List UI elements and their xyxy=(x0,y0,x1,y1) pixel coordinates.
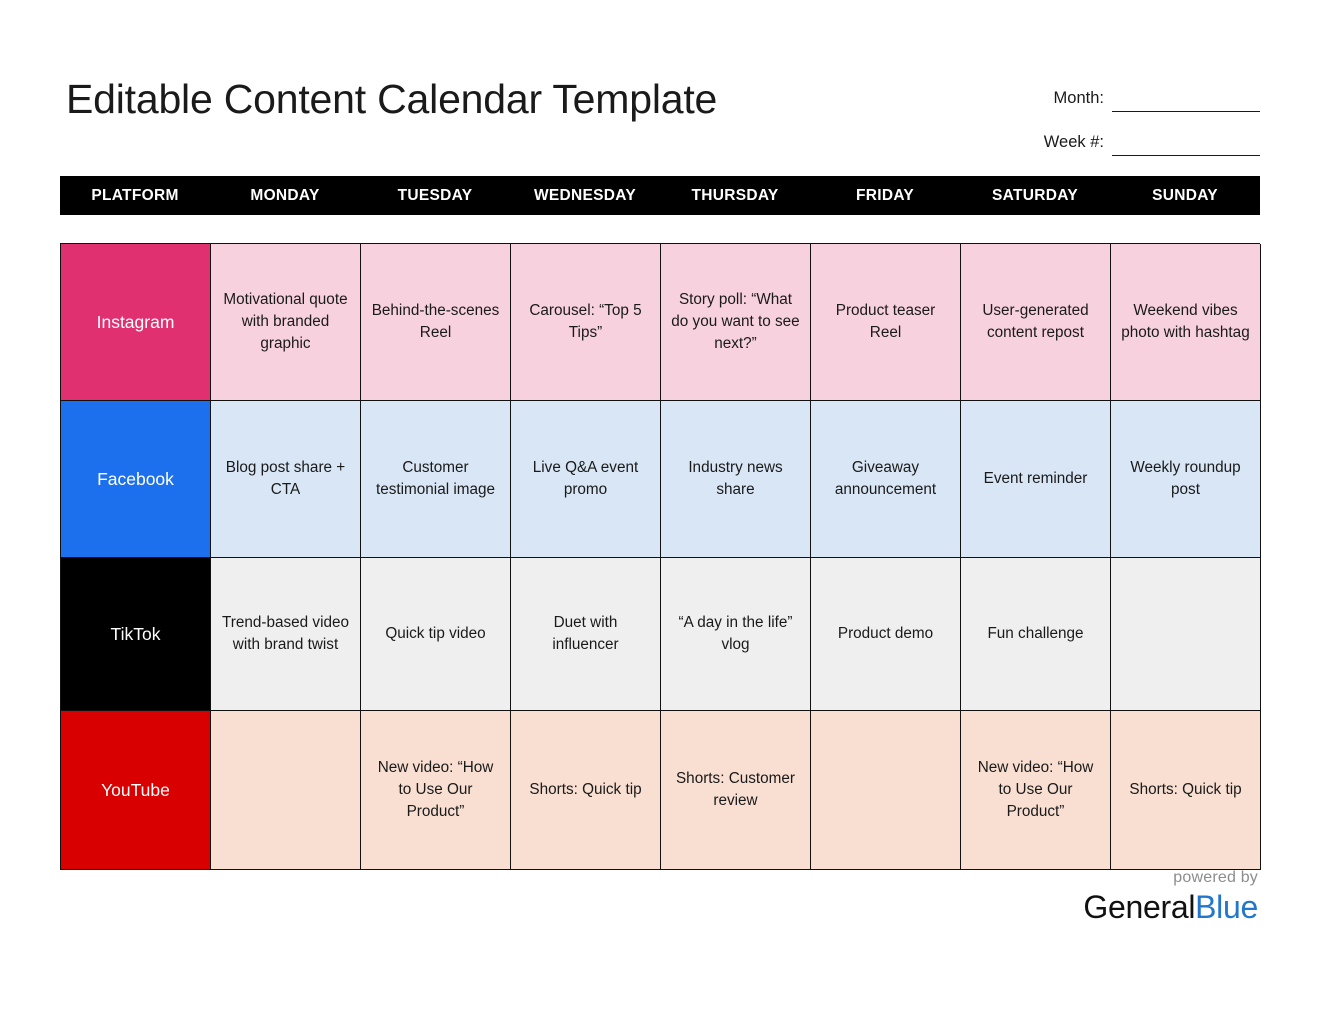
cell-text: Weekly roundup post xyxy=(1120,457,1251,500)
cell-text: Trend-based video with brand twist xyxy=(220,612,351,655)
platform-label-facebook: Facebook xyxy=(61,401,211,558)
week-label: Week #: xyxy=(1044,133,1112,156)
cell-facebook-tuesday[interactable]: Customer testimonial image xyxy=(361,401,511,558)
cell-facebook-monday[interactable]: Blog post share + CTA xyxy=(211,401,361,558)
content-calendar-page: Editable Content Calendar Template Month… xyxy=(0,0,1320,1020)
cell-instagram-tuesday[interactable]: Behind-the-scenes Reel xyxy=(361,244,511,401)
month-input[interactable] xyxy=(1112,85,1260,112)
cell-instagram-sunday[interactable]: Weekend vibes photo with hashtag xyxy=(1111,244,1261,401)
cell-youtube-thursday[interactable]: Shorts: Customer review xyxy=(661,711,811,870)
table-row: Instagram Motivational quote with brande… xyxy=(61,244,1260,401)
month-field-row: Month: xyxy=(1008,68,1260,112)
cell-tiktok-wednesday[interactable]: Duet with influencer xyxy=(511,558,661,711)
cell-text: Giveaway announcement xyxy=(820,457,951,500)
cell-youtube-wednesday[interactable]: Shorts: Quick tip xyxy=(511,711,661,870)
cell-instagram-friday[interactable]: Product teaser Reel xyxy=(811,244,961,401)
brand-name: GeneralBlue xyxy=(1083,891,1258,923)
cell-text: Shorts: Quick tip xyxy=(1129,779,1241,801)
platform-label-instagram: Instagram xyxy=(61,244,211,401)
cell-text: New video: “How to Use Our Product” xyxy=(970,757,1101,822)
table-row: Facebook Blog post share + CTA Customer … xyxy=(61,401,1260,558)
cell-text: New video: “How to Use Our Product” xyxy=(370,757,501,822)
page-title: Editable Content Calendar Template xyxy=(66,76,717,123)
cell-tiktok-saturday[interactable]: Fun challenge xyxy=(961,558,1111,711)
cell-instagram-monday[interactable]: Motivational quote with branded graphic xyxy=(211,244,361,401)
meta-fields: Month: Week #: xyxy=(1008,68,1260,156)
generalblue-logo: powered by GeneralBlue xyxy=(1083,870,1258,923)
cell-text: Motivational quote with branded graphic xyxy=(220,289,351,354)
cell-youtube-monday[interactable] xyxy=(211,711,361,870)
cell-text: Behind-the-scenes Reel xyxy=(370,300,501,343)
cell-text: Story poll: “What do you want to see nex… xyxy=(670,289,801,354)
table-header-row: PLATFORM MONDAY TUESDAY WEDNESDAY THURSD… xyxy=(60,176,1260,215)
cell-tiktok-monday[interactable]: Trend-based video with brand twist xyxy=(211,558,361,711)
column-header-wednesday: WEDNESDAY xyxy=(510,176,660,215)
cell-text: Shorts: Quick tip xyxy=(529,779,641,801)
column-header-thursday: THURSDAY xyxy=(660,176,810,215)
cell-text: Event reminder xyxy=(984,468,1088,490)
cell-tiktok-tuesday[interactable]: Quick tip video xyxy=(361,558,511,711)
powered-by-label: powered by xyxy=(1083,870,1258,886)
cell-text: Carousel: “Top 5 Tips” xyxy=(520,300,651,343)
table-row: YouTube New video: “How to Use Our Produ… xyxy=(61,711,1260,870)
column-header-sunday: SUNDAY xyxy=(1110,176,1260,215)
cell-youtube-friday[interactable] xyxy=(811,711,961,870)
cell-facebook-sunday[interactable]: Weekly roundup post xyxy=(1111,401,1261,558)
brand-name-general: General xyxy=(1083,889,1195,925)
cell-text: Shorts: Customer review xyxy=(670,768,801,811)
column-header-saturday: SATURDAY xyxy=(960,176,1110,215)
cell-text: Live Q&A event promo xyxy=(520,457,651,500)
cell-tiktok-friday[interactable]: Product demo xyxy=(811,558,961,711)
calendar-table: PLATFORM MONDAY TUESDAY WEDNESDAY THURSD… xyxy=(60,176,1260,870)
cell-text: Product demo xyxy=(838,623,933,645)
table-body: Instagram Motivational quote with brande… xyxy=(60,243,1260,870)
cell-youtube-sunday[interactable]: Shorts: Quick tip xyxy=(1111,711,1261,870)
platform-label-youtube: YouTube xyxy=(61,711,211,870)
cell-text: Product teaser Reel xyxy=(820,300,951,343)
cell-tiktok-sunday[interactable] xyxy=(1111,558,1261,711)
column-header-tuesday: TUESDAY xyxy=(360,176,510,215)
column-header-monday: MONDAY xyxy=(210,176,360,215)
month-label: Month: xyxy=(1054,89,1112,112)
cell-instagram-saturday[interactable]: User-generated content repost xyxy=(961,244,1111,401)
cell-facebook-saturday[interactable]: Event reminder xyxy=(961,401,1111,558)
cell-youtube-saturday[interactable]: New video: “How to Use Our Product” xyxy=(961,711,1111,870)
cell-text: Industry news share xyxy=(670,457,801,500)
cell-text: Weekend vibes photo with hashtag xyxy=(1120,300,1251,343)
cell-text: Fun challenge xyxy=(987,623,1083,645)
cell-facebook-friday[interactable]: Giveaway announcement xyxy=(811,401,961,558)
column-header-platform: PLATFORM xyxy=(60,176,210,215)
cell-text: Blog post share + CTA xyxy=(220,457,351,500)
page-header: Editable Content Calendar Template Month… xyxy=(0,0,1320,165)
cell-text: Customer testimonial image xyxy=(370,457,501,500)
cell-instagram-wednesday[interactable]: Carousel: “Top 5 Tips” xyxy=(511,244,661,401)
cell-facebook-thursday[interactable]: Industry news share xyxy=(661,401,811,558)
cell-text: Duet with influencer xyxy=(520,612,651,655)
cell-youtube-tuesday[interactable]: New video: “How to Use Our Product” xyxy=(361,711,511,870)
cell-tiktok-thursday[interactable]: “A day in the life” vlog xyxy=(661,558,811,711)
column-header-friday: FRIDAY xyxy=(810,176,960,215)
week-field-row: Week #: xyxy=(1008,112,1260,156)
brand-name-blue: Blue xyxy=(1195,889,1258,925)
cell-facebook-wednesday[interactable]: Live Q&A event promo xyxy=(511,401,661,558)
table-row: TikTok Trend-based video with brand twis… xyxy=(61,558,1260,711)
week-input[interactable] xyxy=(1112,129,1260,156)
platform-label-tiktok: TikTok xyxy=(61,558,211,711)
cell-text: Quick tip video xyxy=(385,623,485,645)
cell-instagram-thursday[interactable]: Story poll: “What do you want to see nex… xyxy=(661,244,811,401)
cell-text: User-generated content repost xyxy=(970,300,1101,343)
cell-text: “A day in the life” vlog xyxy=(670,612,801,655)
